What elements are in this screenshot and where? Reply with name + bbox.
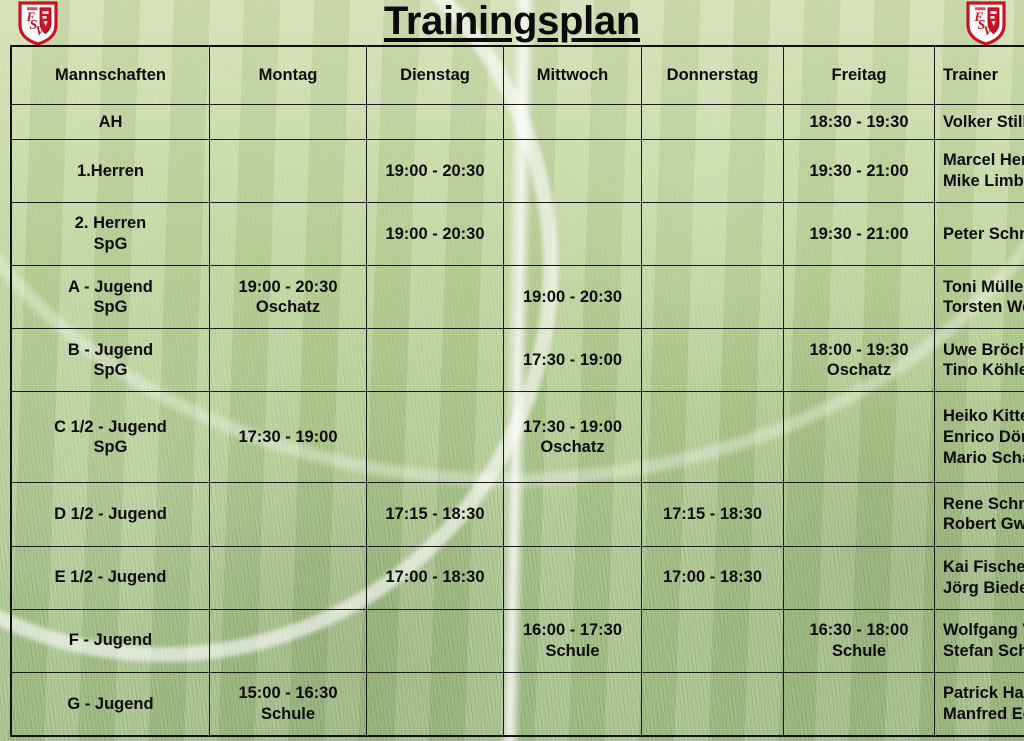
training-time: 19:00 - 20:30 — [375, 224, 495, 245]
cell-thursday-slot — [642, 203, 784, 266]
trainer-name: Uwe Bröcher — [943, 340, 1024, 361]
trainer-name: Manfred Eckert — [943, 704, 1024, 725]
cell-wednesday-slot: 17:30 - 19:00Oschatz — [504, 392, 642, 483]
training-time: 17:00 - 18:30 — [650, 567, 775, 588]
table-row: G - Jugend15:00 - 16:30SchulePatrick Has… — [11, 672, 1024, 736]
cell-team-name: B - JugendSpG — [11, 329, 210, 392]
training-time: 17:30 - 19:00 — [512, 350, 633, 371]
team-name-label: 1.Herren — [20, 161, 201, 182]
training-location: Schule — [792, 641, 926, 662]
trainer-name: Volker Stiller — [943, 112, 1024, 133]
trainer-name: Mario Schaller (O) — [943, 448, 1024, 469]
table-row: 1.Herren19:00 - 20:3019:30 - 21:00Marcel… — [11, 139, 1024, 202]
cell-trainer: Patrick HasenkrugManfred Eckert — [935, 672, 1024, 736]
cell-tuesday-slot: 17:00 - 18:30 — [367, 546, 504, 609]
training-time: 17:30 - 19:00 — [512, 417, 633, 438]
training-time: 16:00 - 17:30 — [512, 620, 633, 641]
cell-team-name: E 1/2 - Jugend — [11, 546, 210, 609]
cell-trainer: Volker Stiller — [935, 105, 1024, 140]
column-header-wednesday: Mittwoch — [504, 46, 642, 105]
cell-monday-slot — [210, 203, 367, 266]
trainer-name: Rene Schneider — [943, 494, 1024, 515]
cell-monday-slot — [210, 139, 367, 202]
training-time: 15:00 - 16:30 — [218, 683, 358, 704]
training-time: 17:15 - 18:30 — [650, 504, 775, 525]
training-time: 18:00 - 19:30 — [792, 340, 926, 361]
cell-thursday-slot — [642, 266, 784, 329]
cell-thursday-slot — [642, 672, 784, 736]
cell-friday-slot: 18:30 - 19:30 — [784, 105, 935, 140]
trainer-name: Mike Limburg — [943, 171, 1024, 192]
cell-trainer: Toni MüllerTorsten Wenzel — [935, 266, 1024, 329]
cell-friday-slot: 19:30 - 21:00 — [784, 139, 935, 202]
cell-team-name: A - JugendSpG — [11, 266, 210, 329]
cell-monday-slot: 19:00 - 20:30Oschatz — [210, 266, 367, 329]
table-header-row: Mannschaften Montag Dienstag Mittwoch Do… — [11, 46, 1024, 105]
trainer-name: Enrico Döring — [943, 427, 1024, 448]
team-name-label: F - Jugend — [20, 630, 201, 651]
team-name-sublabel: SpG — [20, 234, 201, 255]
cell-tuesday-slot: 19:00 - 20:30 — [367, 139, 504, 202]
cell-wednesday-slot — [504, 672, 642, 736]
trainer-name: Wolfgang Vogel — [943, 620, 1024, 641]
trainer-name: Jörg Biedermann — [943, 578, 1024, 599]
table-row: B - JugendSpG17:30 - 19:0018:00 - 19:30O… — [11, 329, 1024, 392]
cell-monday-slot: 15:00 - 16:30Schule — [210, 672, 367, 736]
training-time: 19:00 - 20:30 — [218, 277, 358, 298]
column-header-tuesday: Dienstag — [367, 46, 504, 105]
training-location: Schule — [512, 641, 633, 662]
column-header-thursday: Donnerstag — [642, 46, 784, 105]
training-time: 17:30 - 19:00 — [218, 427, 358, 448]
column-header-teams: Mannschaften — [11, 46, 210, 105]
cell-monday-slot — [210, 546, 367, 609]
cell-friday-slot — [784, 672, 935, 736]
cell-tuesday-slot — [367, 672, 504, 736]
cell-thursday-slot — [642, 105, 784, 140]
cell-monday-slot — [210, 609, 367, 672]
cell-team-name: C 1/2 - JugendSpG — [11, 392, 210, 483]
cell-friday-slot: 18:00 - 19:30Oschatz — [784, 329, 935, 392]
training-location: Oschatz — [792, 360, 926, 381]
team-name-label: E 1/2 - Jugend — [20, 567, 201, 588]
training-location: Oschatz — [218, 297, 358, 318]
cell-tuesday-slot — [367, 609, 504, 672]
trainer-name: Patrick Hasenkrug — [943, 683, 1024, 704]
training-time: 19:30 - 21:00 — [792, 161, 926, 182]
table-body: AH18:30 - 19:30Volker Stiller1.Herren19:… — [11, 105, 1024, 737]
table-row: AH18:30 - 19:30Volker Stiller — [11, 105, 1024, 140]
cell-wednesday-slot — [504, 203, 642, 266]
team-name-label: AH — [20, 112, 201, 133]
table-row: F - Jugend16:00 - 17:30Schule16:30 - 18:… — [11, 609, 1024, 672]
fsv-club-crest-icon: F S V — [966, 1, 1006, 45]
page-header: F S V Trainingsplan F S V — [0, 0, 1024, 45]
team-name-label: 2. Herren — [20, 213, 201, 234]
training-time: 16:30 - 18:00 — [792, 620, 926, 641]
cell-team-name: 2. HerrenSpG — [11, 203, 210, 266]
cell-team-name: F - Jugend — [11, 609, 210, 672]
team-name-sublabel: SpG — [20, 297, 201, 318]
cell-trainer: Marcel HenzeMike Limburg — [935, 139, 1024, 202]
trainer-name: Heiko Kittelmann — [943, 406, 1024, 427]
cell-friday-slot — [784, 392, 935, 483]
column-header-trainer: Trainer — [935, 46, 1024, 105]
table-row: D 1/2 - Jugend17:15 - 18:3017:15 - 18:30… — [11, 483, 1024, 546]
cell-friday-slot: 19:30 - 21:00 — [784, 203, 935, 266]
trainer-name: Torsten Wenzel — [943, 297, 1024, 318]
training-location: Schule — [218, 704, 358, 725]
cell-tuesday-slot — [367, 392, 504, 483]
cell-wednesday-slot: 17:30 - 19:00 — [504, 329, 642, 392]
cell-team-name: G - Jugend — [11, 672, 210, 736]
cell-wednesday-slot: 19:00 - 20:30 — [504, 266, 642, 329]
training-time: 18:30 - 19:30 — [792, 112, 926, 133]
cell-wednesday-slot — [504, 139, 642, 202]
training-time: 17:00 - 18:30 — [375, 567, 495, 588]
cell-tuesday-slot: 17:15 - 18:30 — [367, 483, 504, 546]
table-row: C 1/2 - JugendSpG17:30 - 19:0017:30 - 19… — [11, 392, 1024, 483]
team-name-label: C 1/2 - Jugend — [20, 417, 201, 438]
cell-trainer: Peter Schmidt — [935, 203, 1024, 266]
team-name-sublabel: SpG — [20, 360, 201, 381]
cell-friday-slot — [784, 483, 935, 546]
cell-thursday-slot: 17:15 - 18:30 — [642, 483, 784, 546]
team-name-label: G - Jugend — [20, 694, 201, 715]
cell-thursday-slot — [642, 329, 784, 392]
cell-wednesday-slot — [504, 546, 642, 609]
cell-friday-slot — [784, 266, 935, 329]
team-name-label: D 1/2 - Jugend — [20, 504, 201, 525]
cell-tuesday-slot — [367, 105, 504, 140]
cell-monday-slot — [210, 105, 367, 140]
cell-friday-slot: 16:30 - 18:00Schule — [784, 609, 935, 672]
cell-monday-slot — [210, 483, 367, 546]
training-time: 19:30 - 21:00 — [792, 224, 926, 245]
column-header-monday: Montag — [210, 46, 367, 105]
trainer-name: Marcel Henze — [943, 150, 1024, 171]
table-header: Mannschaften Montag Dienstag Mittwoch Do… — [11, 46, 1024, 105]
cell-team-name: D 1/2 - Jugend — [11, 483, 210, 546]
trainer-name: Peter Schmidt — [943, 224, 1024, 245]
team-name-sublabel: SpG — [20, 437, 201, 458]
table-row: 2. HerrenSpG19:00 - 20:3019:30 - 21:00Pe… — [11, 203, 1024, 266]
cell-tuesday-slot — [367, 266, 504, 329]
team-name-label: B - Jugend — [20, 340, 201, 361]
cell-monday-slot: 17:30 - 19:00 — [210, 392, 367, 483]
cell-monday-slot — [210, 329, 367, 392]
trainer-name: Tino Köhler (O) — [943, 360, 1024, 381]
training-time: 19:00 - 20:30 — [512, 287, 633, 308]
cell-thursday-slot — [642, 609, 784, 672]
trainer-name: Kai Fischer — [943, 557, 1024, 578]
svg-text:V: V — [984, 23, 994, 38]
cell-trainer: Rene SchneiderRobert Gwosdz — [935, 483, 1024, 546]
cell-wednesday-slot: 16:00 - 17:30Schule — [504, 609, 642, 672]
cell-tuesday-slot — [367, 329, 504, 392]
cell-trainer: Wolfgang VogelStefan Schwenker — [935, 609, 1024, 672]
cell-trainer: Uwe BröcherTino Köhler (O) — [935, 329, 1024, 392]
cell-thursday-slot: 17:00 - 18:30 — [642, 546, 784, 609]
table-row: E 1/2 - Jugend17:00 - 18:3017:00 - 18:30… — [11, 546, 1024, 609]
training-time: 17:15 - 18:30 — [375, 504, 495, 525]
team-name-label: A - Jugend — [20, 277, 201, 298]
cell-trainer: Kai FischerJörg Biedermann — [935, 546, 1024, 609]
cell-thursday-slot — [642, 139, 784, 202]
page-title: Trainingsplan — [0, 0, 1024, 44]
column-header-friday: Freitag — [784, 46, 935, 105]
cell-friday-slot — [784, 546, 935, 609]
cell-wednesday-slot — [504, 483, 642, 546]
trainer-name: Toni Müller — [943, 277, 1024, 298]
table-row: A - JugendSpG19:00 - 20:30Oschatz19:00 -… — [11, 266, 1024, 329]
training-time: 19:00 - 20:30 — [375, 161, 495, 182]
cell-team-name: AH — [11, 105, 210, 140]
trainer-name: Robert Gwosdz — [943, 514, 1024, 535]
cell-tuesday-slot: 19:00 - 20:30 — [367, 203, 504, 266]
cell-wednesday-slot — [504, 105, 642, 140]
training-schedule-table: Mannschaften Montag Dienstag Mittwoch Do… — [10, 45, 1024, 737]
training-location: Oschatz — [512, 437, 633, 458]
trainer-name: Stefan Schwenker — [943, 641, 1024, 662]
cell-trainer: Heiko KittelmannEnrico DöringMario Schal… — [935, 392, 1024, 483]
cell-team-name: 1.Herren — [11, 139, 210, 202]
cell-thursday-slot — [642, 392, 784, 483]
